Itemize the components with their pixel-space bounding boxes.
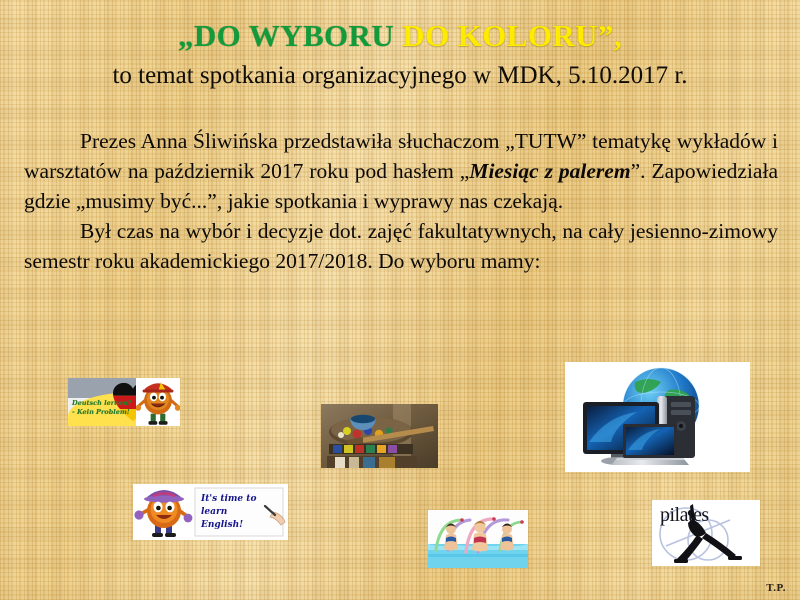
page-subtitle: to temat spotkania organizacyjnego w MDK…: [0, 62, 800, 90]
painting-class-image: [321, 404, 438, 468]
title-part-green: „DO WYBORU: [178, 18, 394, 53]
paragraph-1: Prezes Anna Śliwińska przedstawiła słuch…: [24, 126, 778, 216]
body-text: Prezes Anna Śliwińska przedstawiła słuch…: [24, 126, 778, 276]
title-part-yellow: DO KOLORU”,: [402, 18, 622, 53]
author-signature: T.P.: [766, 582, 786, 594]
art-palette-icon: [321, 404, 438, 468]
german-language-image: Deutsch lernen? - Kein Problem!: [68, 378, 180, 426]
pilates-caption: pilates: [660, 504, 709, 527]
aqua-aerobics-icon: [428, 510, 528, 568]
german-caption-line-1: Deutsch lernen?: [72, 399, 132, 407]
english-caption-line-2: English!: [201, 520, 243, 530]
aqua-aerobics-image: [428, 510, 528, 568]
english-language-image: It's time to learn English!: [133, 484, 288, 540]
computer-globe-icon: [565, 362, 750, 472]
page-title: „DO WYBORU DO KOLORU”,: [0, 18, 800, 54]
german-caption-line-2: - Kein Problem!: [72, 408, 130, 416]
german-mascot: [136, 378, 180, 426]
slide-canvas: „DO WYBORU DO KOLORU”, to temat spotkani…: [0, 0, 800, 600]
english-caption: It's time to learn English!: [201, 493, 281, 532]
paragraph-2: Był czas na wybór i decyzje dot. zajęć f…: [24, 216, 778, 276]
pilates-image: pilates: [652, 500, 760, 566]
computer-course-image: [565, 362, 750, 472]
paragraph-1-motto: Miesiąc z palerem: [469, 159, 630, 183]
mascot-figure-icon: [136, 378, 180, 426]
german-caption: Deutsch lernen? - Kein Problem!: [72, 399, 146, 417]
paragraph-2-segment-1: Był czas na wybór i decyzje dot. zajęć f…: [24, 219, 778, 273]
english-caption-line-1: It's time to learn: [201, 494, 256, 517]
